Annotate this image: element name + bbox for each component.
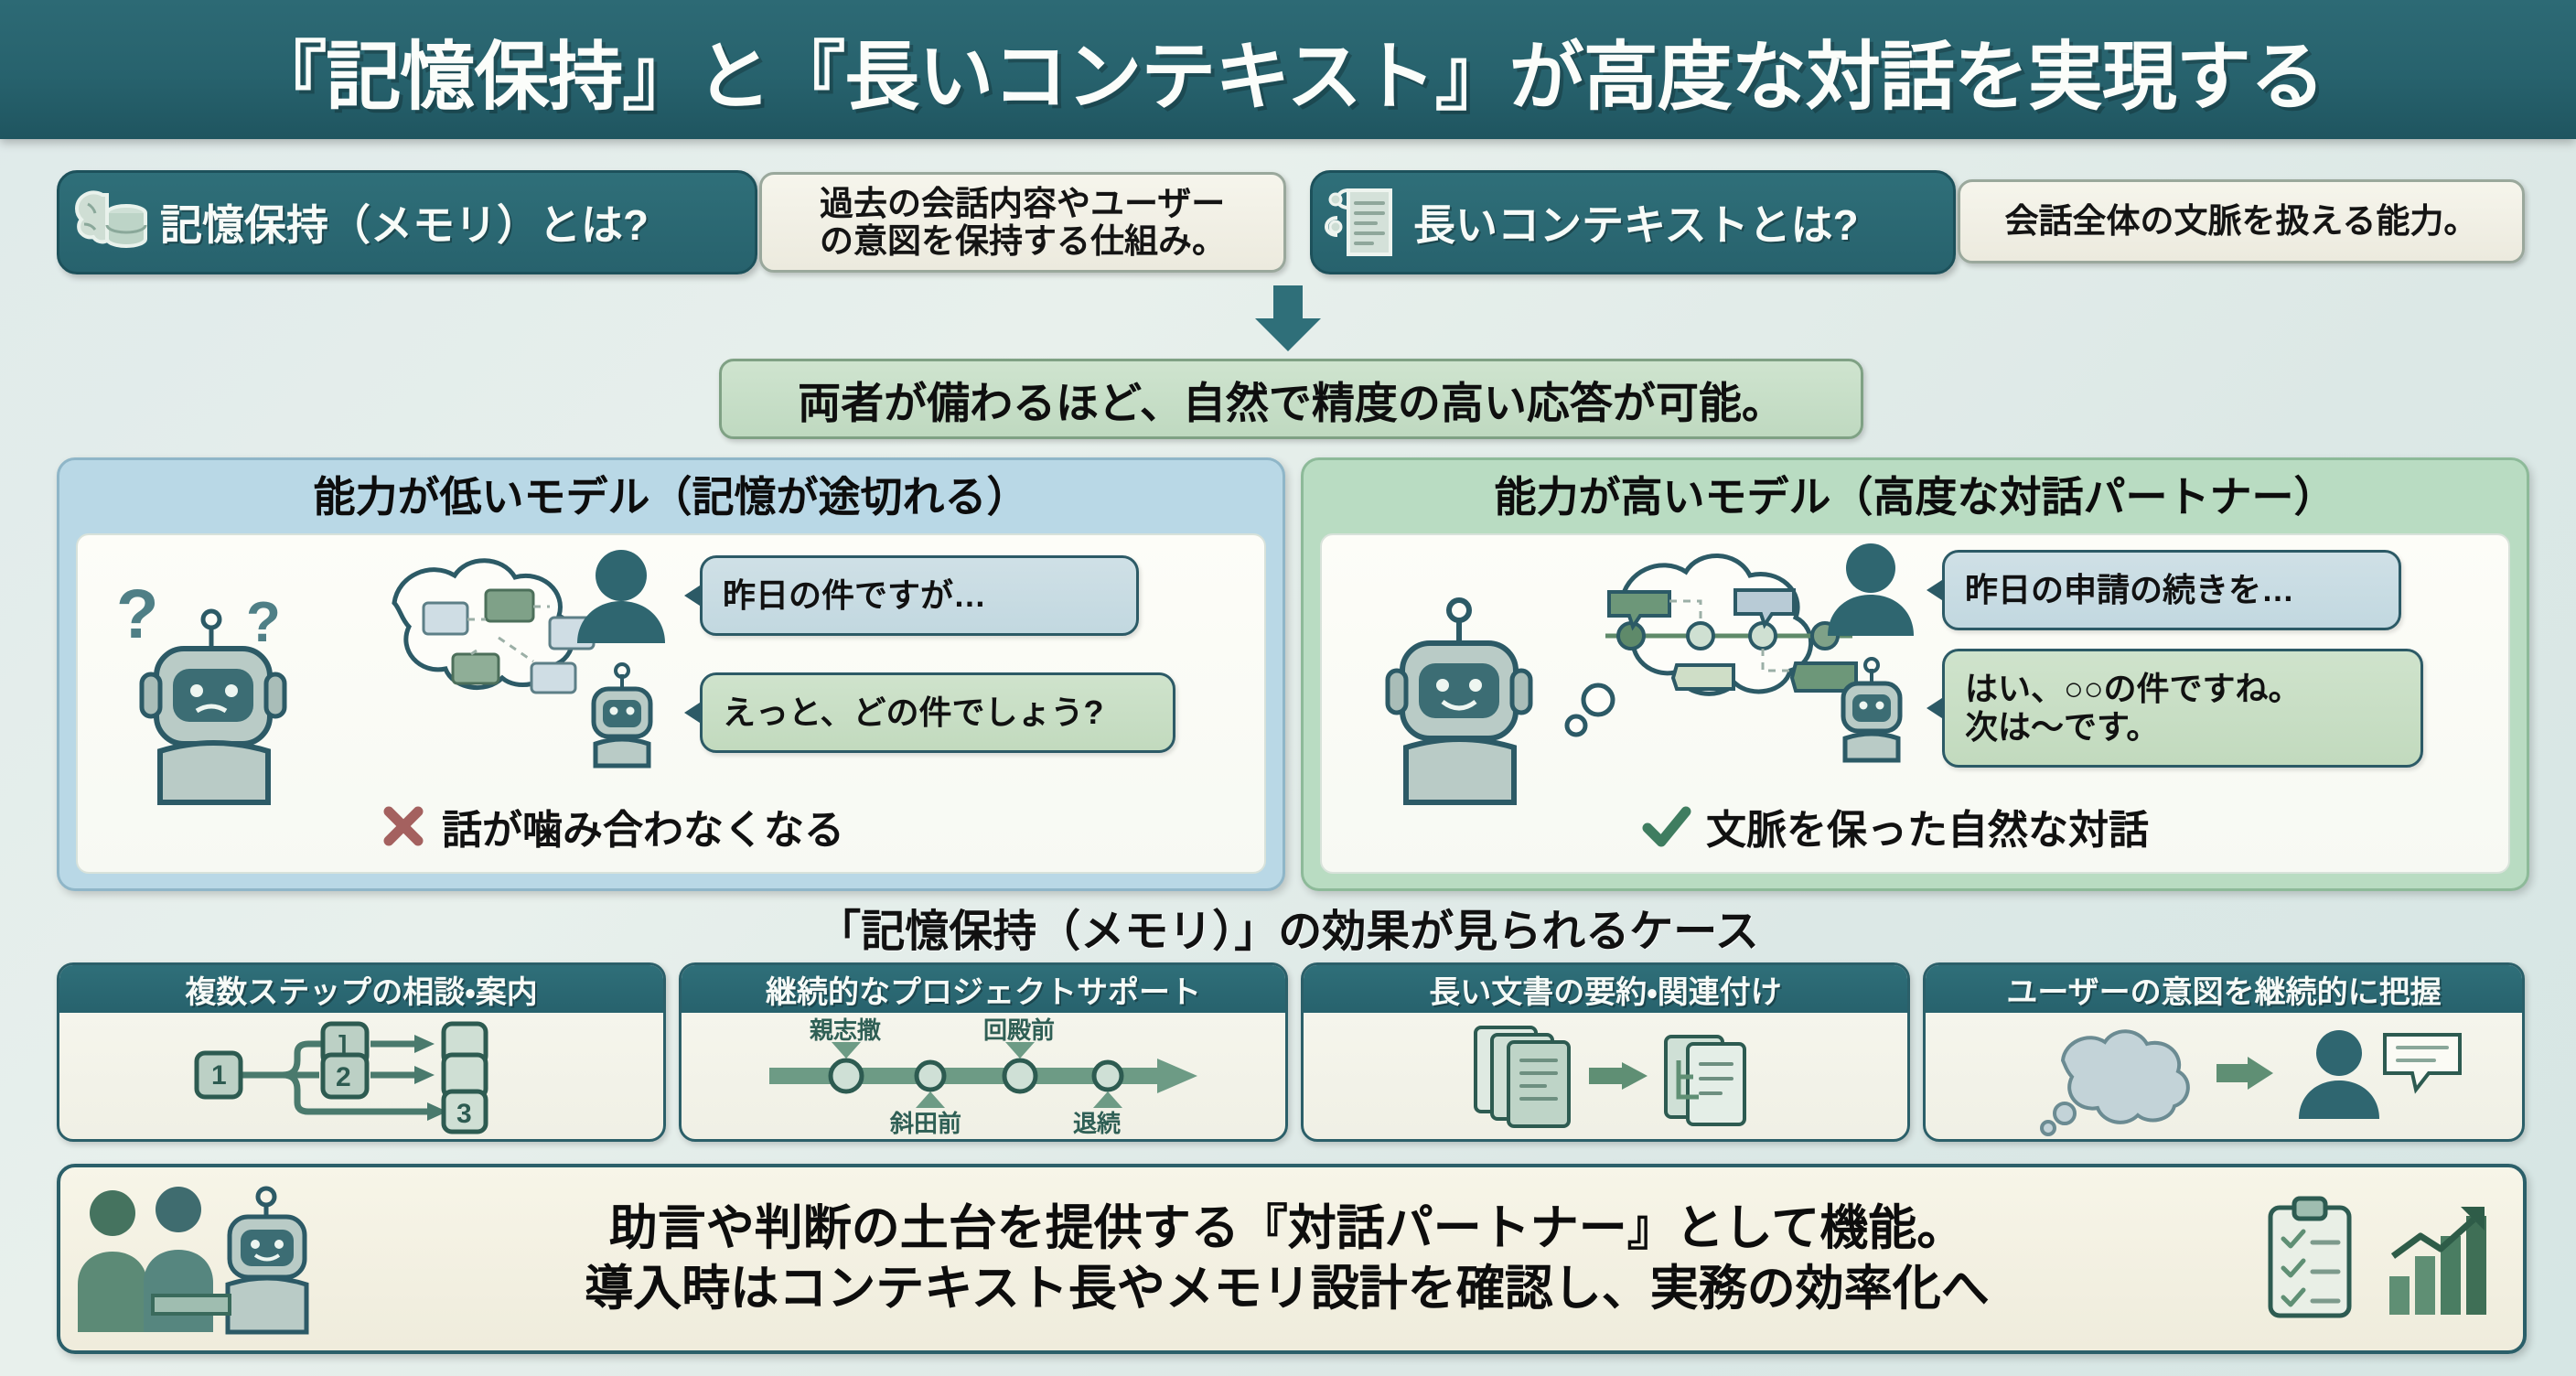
cross-icon bbox=[380, 802, 427, 850]
panel-low-body: ? ? bbox=[76, 533, 1266, 874]
verdict-low-text: 話が噛み合わなくなる bbox=[442, 797, 844, 855]
panel-high-capability: 能力が高いモデル（高度な対話パートナー） bbox=[1301, 457, 2529, 891]
svg-text:?: ? bbox=[116, 575, 158, 653]
case-card-4: ユーザーの意図を継続的に把握 bbox=[1923, 962, 2525, 1142]
verdict-high-text: 文脈を保った自然な対話 bbox=[1706, 797, 2149, 855]
header-bar: 『記憶保持』と『長いコンテキスト』が高度な対話を実現する bbox=[0, 0, 2576, 139]
bubble-bot-high-text: はい、○○の件ですね。 次は〜です。 bbox=[1965, 670, 2302, 747]
panel-low-header-text: 能力が低いモデル（記憶が途切れる） bbox=[314, 464, 1029, 524]
cases-section-title: 「記憶保持（メモリ）」の効果が見られるケース bbox=[0, 895, 2576, 959]
flow-node-1: 1 bbox=[211, 1060, 227, 1091]
definition-pill-memory: 記憶保持（メモリ）とは? bbox=[57, 170, 757, 274]
case-card-4-header: ユーザーの意図を継続的に把握 bbox=[1926, 965, 2522, 1013]
checklist-icon bbox=[2259, 1195, 2360, 1323]
timeline-diagram: 親志撒 回殿前 斜田前 退続 bbox=[682, 1013, 1285, 1137]
flow-node-4: 3 bbox=[456, 1099, 472, 1129]
case-card-1: 複数ステップの相談・案内 1 ] bbox=[57, 962, 666, 1142]
scroll-document-icon bbox=[1313, 183, 1413, 262]
definition-label-memory: 記憶保持（メモリ）とは? bbox=[160, 192, 649, 253]
bubble-tail bbox=[684, 584, 703, 607]
synergy-banner-text: 両者が備わるほど、自然で精度の高い応答が可能。 bbox=[798, 368, 1785, 431]
flow-node-3: 2 bbox=[336, 1062, 351, 1092]
verdict-high: 文脈を保った自然な対話 bbox=[1642, 797, 2149, 855]
footer-line-2: 導入時はコンテキスト長やメモリ設計を確認し、実務の効率化へ bbox=[344, 1259, 2230, 1319]
confused-robot-icon: ? ? bbox=[109, 557, 319, 813]
panel-high-header-text: 能力が高いモデル（高度な対話パートナー） bbox=[1495, 464, 2336, 524]
case-card-1-header: 複数ステップの相談・案内 bbox=[59, 965, 663, 1013]
timeline-label-above-1: 親志撒 bbox=[810, 1016, 882, 1044]
bubble-bot-low-text: えっと、どの件でしょう? bbox=[723, 693, 1104, 732]
definition-pill-context: 長いコンテキストとは? bbox=[1310, 170, 1956, 274]
footer-icons bbox=[2230, 1195, 2523, 1323]
documents-summary-diagram bbox=[1304, 1013, 1907, 1137]
definition-desc-context: 会話全体の文脈を扱える能力。 bbox=[1991, 202, 2493, 240]
thought-to-person-diagram bbox=[1926, 1013, 2522, 1137]
person-and-bot-icon bbox=[1821, 541, 1922, 769]
case-card-2-title: 継続的なプロジェクトサポート bbox=[766, 967, 1201, 1012]
definition-desc-context-box: 会話全体の文脈を扱える能力。 bbox=[1958, 179, 2525, 263]
people-robot-handshake-icon bbox=[60, 1182, 344, 1336]
bubble-user-low-text: 昨日の件ですが… bbox=[723, 576, 986, 615]
infographic-page: 『記憶保持』と『長いコンテキスト』が高度な対話を実現する 記憶保持（メモリ）とは… bbox=[0, 0, 2576, 1376]
check-icon bbox=[1642, 802, 1691, 850]
definition-desc-memory-box: 過去の会話内容やユーザー の意図を保持する仕組み。 bbox=[759, 172, 1286, 273]
timeline-label-below-1: 斜田前 bbox=[889, 1110, 961, 1137]
down-arrow-icon bbox=[1250, 285, 1326, 356]
bubble-user-high-text: 昨日の申請の続きを… bbox=[1965, 571, 2294, 609]
case-card-4-title: ユーザーの意図を継続的に把握 bbox=[2006, 967, 2441, 1012]
growth-chart-icon bbox=[2384, 1199, 2494, 1318]
case-card-3-header: 長い文書の要約・関連付け bbox=[1304, 965, 1907, 1013]
case-card-3-title: 長い文書の要約・関連付け bbox=[1429, 967, 1782, 1012]
person-and-bot-icon bbox=[572, 544, 672, 773]
footer-banner: 助言や判断の土台を提供する『対話パートナー』として機能。 導入時はコンテキスト長… bbox=[57, 1164, 2527, 1354]
bubble-user-low: 昨日の件ですが… bbox=[700, 555, 1139, 636]
footer-text: 助言や判断の土台を提供する『対話パートナー』として機能。 導入時はコンテキスト長… bbox=[344, 1199, 2230, 1318]
page-title: 『記憶保持』と『長いコンテキスト』が高度な対話を実現する bbox=[252, 16, 2324, 124]
bubble-bot-low: えっと、どの件でしょう? bbox=[700, 672, 1175, 753]
bubble-tail bbox=[1927, 696, 1945, 720]
definition-label-context: 長いコンテキストとは? bbox=[1413, 192, 1859, 253]
panel-high-body: 昨日の申請の続きを… はい、○○の件ですね。 次は〜です。 文脈を保った自然な対… bbox=[1320, 533, 2510, 874]
verdict-low: 話が噛み合わなくなる bbox=[380, 797, 844, 855]
definition-desc-memory: 過去の会話内容やユーザー の意図を保持する仕組み。 bbox=[805, 185, 1240, 261]
footer-line-1: 助言や判断の土台を提供する『対話パートナー』として機能。 bbox=[344, 1199, 2230, 1259]
case-card-1-title: 複数ステップの相談・案内 bbox=[185, 967, 538, 1012]
panel-low-capability: 能力が低いモデル（記憶が途切れる） ? ? bbox=[57, 457, 1285, 891]
case-card-2: 継続的なプロジェクトサポート 親志撒 回殿前 斜田前 退続 bbox=[679, 962, 1288, 1142]
timeline-label-below-2: 退続 bbox=[1073, 1110, 1121, 1137]
bubble-tail bbox=[1927, 578, 1945, 602]
panel-high-header: 能力が高いモデル（高度な対話パートナー） bbox=[1304, 460, 2527, 528]
timeline-label-above-2: 回殿前 bbox=[983, 1016, 1055, 1044]
synergy-banner: 両者が備わるほど、自然で精度の高い応答が可能。 bbox=[719, 359, 1863, 439]
svg-text:?: ? bbox=[246, 591, 281, 654]
case-card-2-header: 継続的なプロジェクトサポート bbox=[682, 965, 1285, 1013]
bubble-user-high: 昨日の申請の続きを… bbox=[1942, 550, 2401, 630]
smiling-robot-icon bbox=[1358, 586, 1560, 824]
brain-database-icon bbox=[59, 184, 160, 261]
bubble-tail bbox=[684, 701, 703, 725]
cases-section-title-text: 「記憶保持（メモリ）」の効果が見られるケース bbox=[817, 908, 1759, 956]
step-flow-diagram: 1 ] 2 3 bbox=[59, 1013, 663, 1137]
bubble-bot-high: はい、○○の件ですね。 次は〜です。 bbox=[1942, 649, 2423, 768]
panel-low-header: 能力が低いモデル（記憶が途切れる） bbox=[59, 460, 1283, 528]
case-card-3: 長い文書の要約・関連付け bbox=[1301, 962, 1910, 1142]
